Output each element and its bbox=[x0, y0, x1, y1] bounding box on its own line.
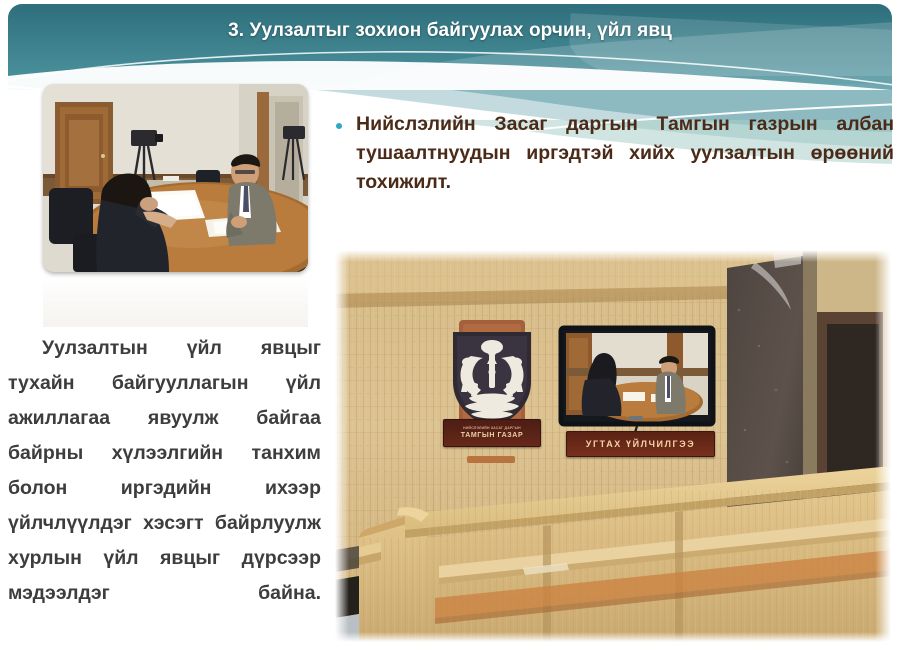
emblem-name-plate: НИЙСЛЭЛИЙН ЗАСАГ ДАРГЫН ТАМГЫН ГАЗАР bbox=[443, 419, 541, 447]
body-paragraph: Уулзалтын үйл явцыг тухайн байгууллагын … bbox=[8, 331, 321, 645]
meeting-photo-reflection-art bbox=[43, 273, 308, 327]
presentation-slide: 3. Уулзалтыг зохион байгуулах орчин, үйл… bbox=[0, 0, 900, 645]
emblem-plate-title: ТАМГЫН ГАЗАР bbox=[461, 431, 523, 441]
meeting-room-photo-art bbox=[43, 84, 308, 272]
slide-header-banner: 3. Уулзалтыг зохион байгуулах орчин, үйл… bbox=[8, 4, 892, 90]
reception-sign-text: УГТАХ ҮЙЛЧИЛГЭЭ bbox=[586, 439, 695, 449]
bullet-dot-icon bbox=[336, 123, 342, 129]
lobby-reception-photo: НИЙСЛЭЛИЙН ЗАСАГ ДАРГЫН ТАМГЫН ГАЗАР УГТ… bbox=[335, 250, 891, 642]
meeting-room-photo bbox=[43, 84, 308, 272]
slide-title: 3. Уулзалтыг зохион байгуулах орчин, үйл… bbox=[8, 4, 892, 58]
reception-sign-plate: УГТАХ ҮЙЛЧИЛГЭЭ bbox=[566, 431, 715, 457]
bullet-item-text: Нийслэлийн Засаг даргын Тамгын газрын ал… bbox=[356, 110, 894, 226]
bullet-list: Нийслэлийн Засаг даргын Тамгын газрын ал… bbox=[336, 110, 894, 226]
meeting-photo-reflection bbox=[43, 273, 308, 327]
